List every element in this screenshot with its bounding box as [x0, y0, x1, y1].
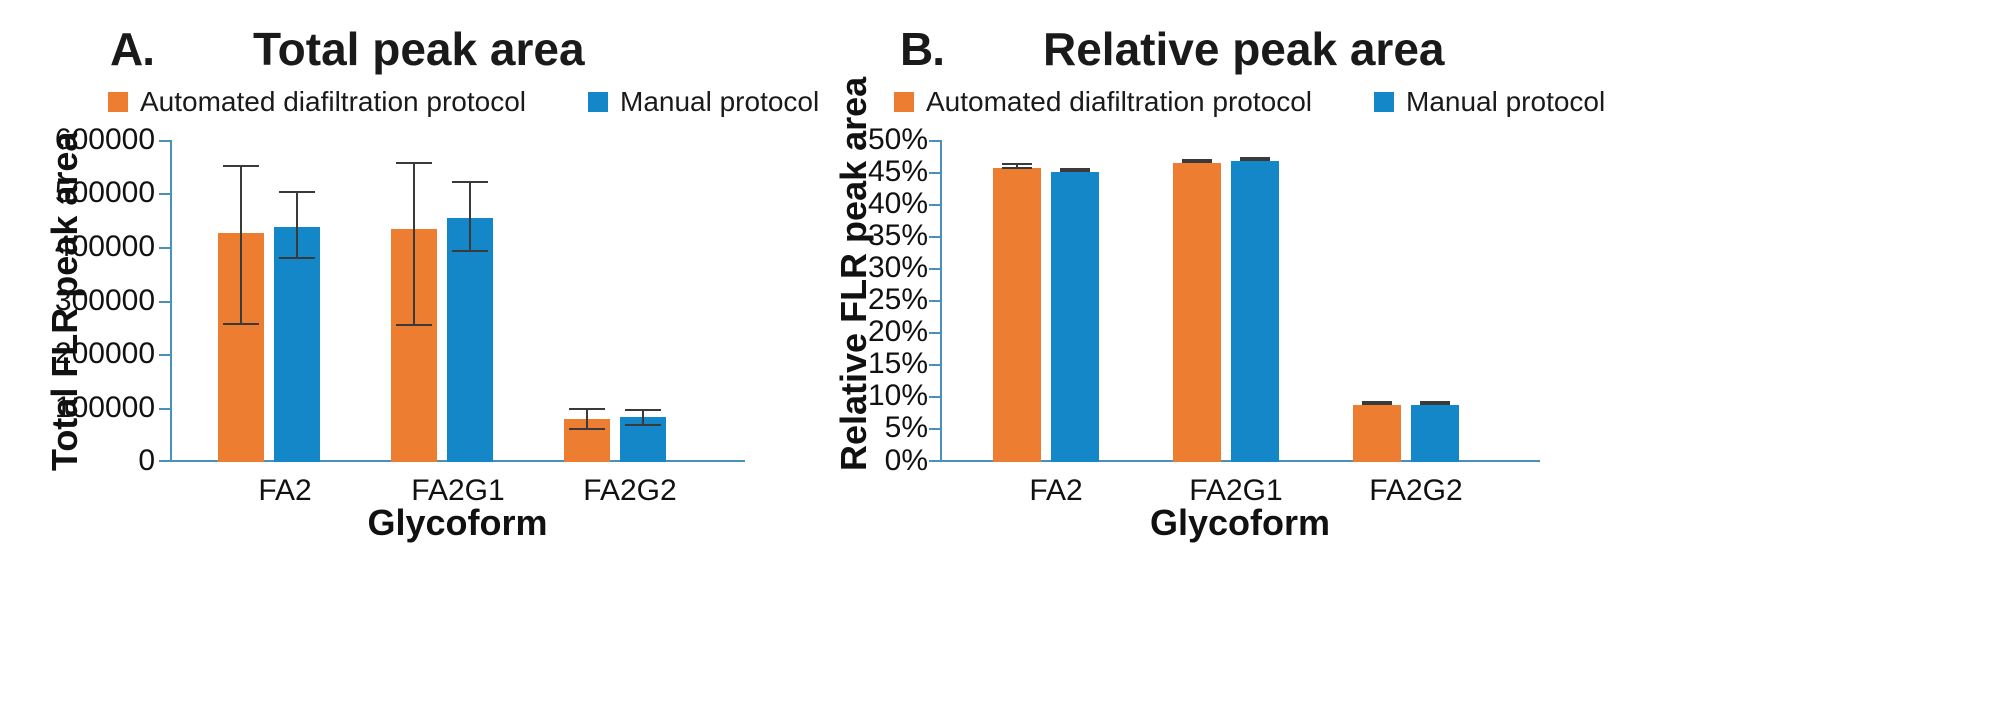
figure-root: A. Total peak area Automated diafiltrati…: [0, 0, 2000, 713]
y-tick-label: 100000: [0, 391, 155, 425]
errorbar-b-fa2g1-manual: [1231, 157, 1279, 161]
y-tick-mark: [929, 172, 940, 174]
y-tick-label: 0: [0, 444, 155, 478]
panel-a-title: Total peak area: [253, 22, 585, 76]
legend-swatch-square-icon: [588, 92, 608, 112]
bar-a-fa2-manual: [274, 227, 320, 462]
y-tick-label: 30%: [828, 251, 928, 285]
y-tick-label: 20%: [828, 315, 928, 349]
legend-item-automated: Automated diafiltration protocol: [894, 86, 1312, 118]
y-tick-label: 600000: [0, 123, 155, 157]
bar-b-fa2-automated: [993, 168, 1041, 462]
legend-item-manual: Manual protocol: [588, 86, 819, 118]
y-tick-mark: [929, 364, 940, 366]
errorbar-a-fa2g1-automated: [391, 162, 437, 326]
panel-a-y-axis-line: [170, 140, 172, 462]
errorbar-b-fa2g2-automated: [1353, 401, 1401, 405]
y-tick-mark: [929, 396, 940, 398]
y-tick-label: 5%: [828, 411, 928, 445]
panel-a-legend: Automated diafiltration protocol Manual …: [108, 86, 819, 118]
legend-swatch-square-icon: [894, 92, 914, 112]
y-tick-mark: [929, 428, 940, 430]
y-tick-label: 35%: [828, 219, 928, 253]
panel-b-legend: Automated diafiltration protocol Manual …: [894, 86, 1605, 118]
y-tick-label: 300000: [0, 284, 155, 318]
panel-b-plot-area: 50% 45% 40% 35% 30% 25% 20% 15% 10% 5% 0…: [940, 140, 1540, 462]
bar-b-fa2g2-automated: [1353, 405, 1401, 462]
y-tick-mark: [159, 301, 170, 303]
y-tick-mark: [929, 236, 940, 238]
y-tick-label: 15%: [828, 347, 928, 381]
y-tick-mark: [929, 140, 940, 142]
y-tick-label: 400000: [0, 230, 155, 264]
legend-item-automated: Automated diafiltration protocol: [108, 86, 526, 118]
y-tick-mark: [929, 300, 940, 302]
errorbar-a-fa2g1-manual: [447, 181, 493, 252]
y-tick-mark: [159, 354, 170, 356]
y-tick-mark: [159, 193, 170, 195]
y-tick-label: 200000: [0, 337, 155, 371]
y-tick-mark: [159, 460, 170, 462]
errorbar-b-fa2g2-manual: [1411, 401, 1459, 405]
legend-swatch-square-icon: [1374, 92, 1394, 112]
legend-swatch-square-icon: [108, 92, 128, 112]
panel-b-y-axis-line: [940, 140, 942, 462]
bar-b-fa2g2-manual: [1411, 405, 1459, 462]
bar-b-fa2g1-automated: [1173, 163, 1221, 462]
errorbar-a-fa2g2-manual: [620, 409, 666, 426]
legend-label-automated: Automated diafiltration protocol: [140, 86, 526, 118]
y-tick-label: 40%: [828, 187, 928, 221]
bar-b-fa2-manual: [1051, 172, 1099, 462]
panel-b-title: Relative peak area: [1043, 22, 1445, 76]
legend-label-automated: Automated diafiltration protocol: [926, 86, 1312, 118]
y-tick-label: 10%: [828, 379, 928, 413]
y-tick-mark: [159, 408, 170, 410]
legend-item-manual: Manual protocol: [1374, 86, 1605, 118]
bar-b-fa2g1-manual: [1231, 161, 1279, 462]
y-tick-mark: [159, 140, 170, 142]
legend-label-manual: Manual protocol: [1406, 86, 1605, 118]
y-tick-mark: [929, 204, 940, 206]
y-tick-mark: [929, 460, 940, 462]
panel-a-letter: A.: [110, 22, 154, 76]
y-tick-label: 50%: [828, 123, 928, 157]
bar-a-fa2g1-manual: [447, 218, 493, 462]
errorbar-a-fa2-automated: [218, 165, 264, 325]
y-tick-label: 25%: [828, 283, 928, 317]
y-tick-mark: [929, 332, 940, 334]
errorbar-a-fa2-manual: [274, 191, 320, 259]
errorbar-b-fa2g1-automated: [1173, 159, 1221, 163]
y-tick-label: 0%: [828, 444, 928, 478]
y-tick-mark: [159, 247, 170, 249]
panel-b: B. Relative peak area Automated diafiltr…: [790, 0, 2000, 713]
errorbar-a-fa2g2-automated: [564, 408, 610, 430]
panel-b-x-axis-title: Glycoform: [940, 502, 1540, 544]
errorbar-b-fa2-manual: [1051, 168, 1099, 172]
y-tick-label: 45%: [828, 155, 928, 189]
y-tick-label: 500000: [0, 176, 155, 210]
y-tick-mark: [929, 268, 940, 270]
panel-b-letter: B.: [900, 22, 944, 76]
panel-a-plot-area: 600000 500000 400000 300000 200000 10000…: [170, 140, 745, 462]
errorbar-b-fa2-automated: [993, 163, 1041, 169]
panel-a-x-axis-title: Glycoform: [170, 502, 745, 544]
